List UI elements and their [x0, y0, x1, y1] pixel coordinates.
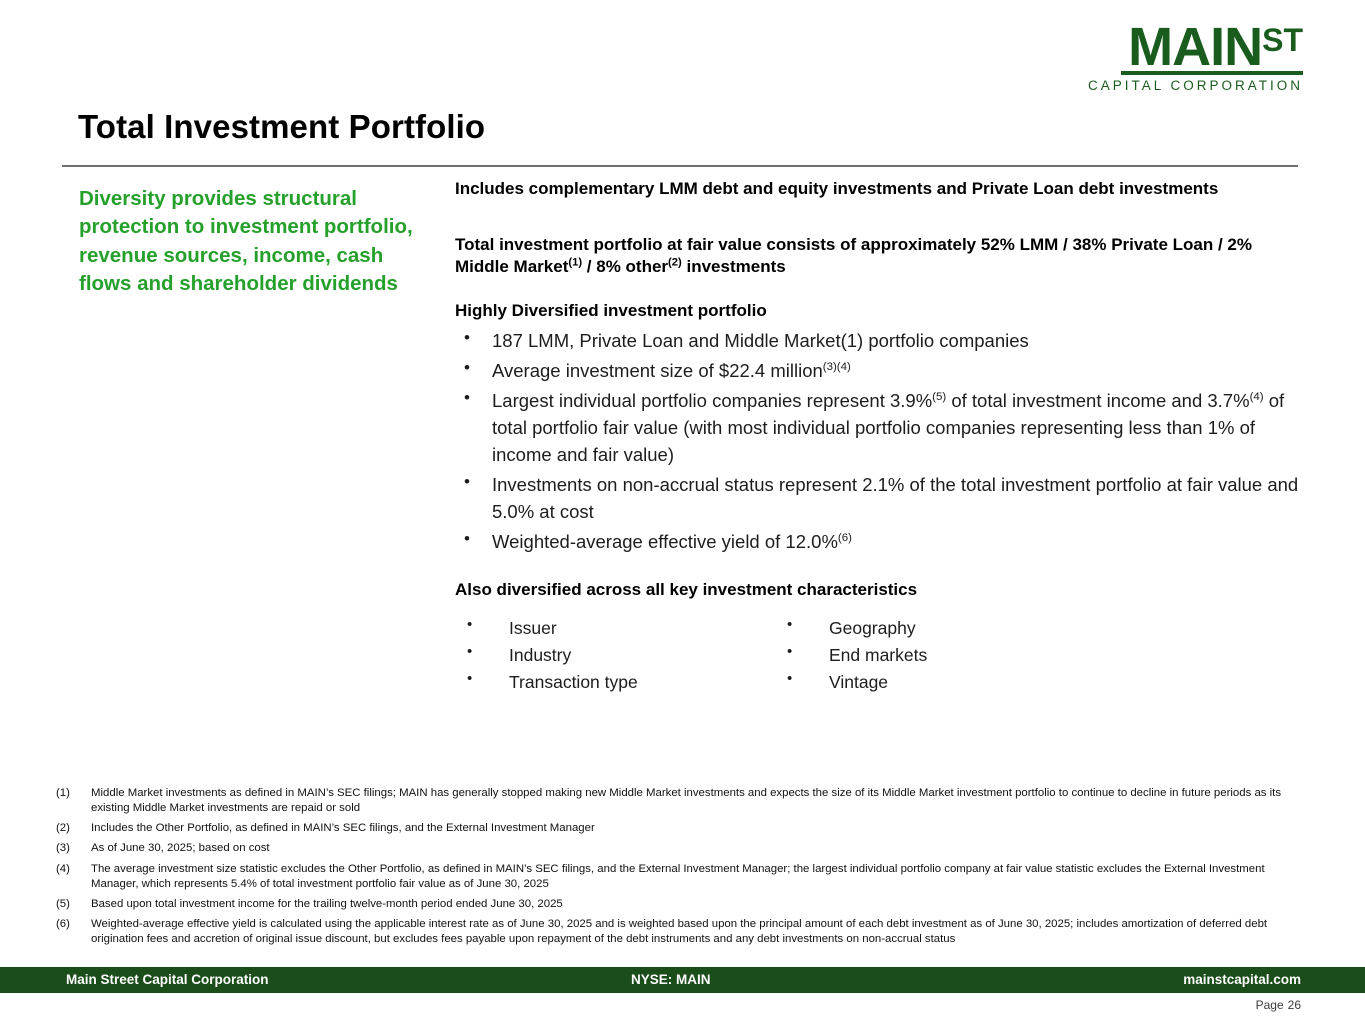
logo-wordmark-st: ST: [1262, 22, 1303, 58]
footnote-number: (1): [56, 786, 91, 816]
footnote-number: (6): [56, 917, 91, 947]
brand-logo: MAINST CAPITAL CORPORATION: [1088, 22, 1303, 93]
list-item-text: Average investment size of $22.4 million: [492, 360, 823, 381]
list-item-text: Investments on non-accrual status repres…: [492, 474, 1298, 522]
list-item-text: Largest individual portfolio companies r…: [492, 390, 932, 411]
list-item: 187 LMM, Private Loan and Middle Market(…: [455, 327, 1300, 354]
diversity-callout: Diversity provides structural protection…: [79, 185, 429, 299]
list-item-text: Weighted-average effective yield of 12.0…: [492, 531, 838, 552]
title-divider: [62, 165, 1298, 167]
logo-wordmark-main: MAIN: [1128, 17, 1262, 77]
logo-wordmark: MAINST: [1088, 22, 1303, 73]
lead-statement-1: Includes complementary LMM debt and equi…: [455, 178, 1300, 200]
page-number-label: Page: [1256, 998, 1284, 1012]
characteristic-item-right: Vintage: [775, 669, 927, 696]
logo-subtitle: CAPITAL CORPORATION: [1088, 79, 1303, 93]
portfolio-stats-list: 187 LMM, Private Loan and Middle Market(…: [455, 327, 1300, 555]
list-item: Largest individual portfolio companies r…: [455, 387, 1300, 469]
page-title: Total Investment Portfolio: [78, 108, 485, 146]
characteristics-column-left: IssuerIndustryTransaction type: [455, 615, 775, 695]
characteristics-list-right: GeographyEnd marketsVintage: [775, 615, 927, 695]
footnote-text: Includes the Other Portfolio, as defined…: [91, 821, 1301, 836]
footnote-text: As of June 30, 2025; based on cost: [91, 841, 1301, 856]
lead-2-text-b: / 8% other: [582, 257, 668, 276]
footer-website: mainstcapital.com: [1183, 972, 1301, 987]
footnote-text: Middle Market investments as defined in …: [91, 786, 1301, 816]
footnote-number: (5): [56, 897, 91, 912]
footnote-ref: (4): [1250, 391, 1264, 403]
section-heading-characteristics: Also diversified across all key investme…: [455, 579, 1300, 601]
characteristic-item-right: End markets: [775, 642, 927, 669]
footnote-row: (4)The average investment size statistic…: [56, 862, 1301, 892]
page-number-value: 26: [1288, 998, 1301, 1012]
footnote-text: The average investment size statistic ex…: [91, 862, 1301, 892]
footnote-row: (5)Based upon total investment income fo…: [56, 897, 1301, 912]
section-heading-diversified: Highly Diversified investment portfolio: [455, 300, 1300, 322]
footnote-ref: (6): [838, 532, 852, 544]
main-content: Includes complementary LMM debt and equi…: [455, 178, 1300, 695]
characteristic-item-left: Issuer: [455, 615, 775, 642]
page-number: Page26: [1256, 998, 1301, 1012]
footnote-row: (1)Middle Market investments as defined …: [56, 786, 1301, 816]
footnote-row: (2)Includes the Other Portfolio, as defi…: [56, 821, 1301, 836]
characteristic-item-left: Industry: [455, 642, 775, 669]
footer-ticker: NYSE: MAIN: [631, 972, 711, 987]
footer-bar: Main Street Capital Corporation NYSE: MA…: [0, 967, 1365, 993]
characteristics-columns: IssuerIndustryTransaction type Geography…: [455, 615, 1300, 695]
list-item: Weighted-average effective yield of 12.0…: [455, 528, 1300, 555]
list-item: Investments on non-accrual status repres…: [455, 471, 1300, 525]
footnote-ref-1: (1): [568, 257, 582, 269]
footnotes-block: (1)Middle Market investments as defined …: [56, 786, 1301, 952]
footnote-ref: (3)(4): [823, 361, 851, 373]
lead-2-text-c: investments: [682, 257, 786, 276]
characteristics-list-left: IssuerIndustryTransaction type: [455, 615, 775, 695]
footnote-number: (3): [56, 841, 91, 856]
characteristic-item-right: Geography: [775, 615, 927, 642]
list-item-text: 187 LMM, Private Loan and Middle Market(…: [492, 330, 1029, 351]
footnote-row: (3)As of June 30, 2025; based on cost: [56, 841, 1301, 856]
footnote-ref-2: (2): [668, 257, 682, 269]
list-item-text: of total investment income and 3.7%: [946, 390, 1249, 411]
footnote-number: (4): [56, 862, 91, 892]
footnote-text: Weighted-average effective yield is calc…: [91, 917, 1301, 947]
lead-statement-2: Total investment portfolio at fair value…: [455, 234, 1300, 278]
footnote-number: (2): [56, 821, 91, 836]
characteristics-column-right: GeographyEnd marketsVintage: [775, 615, 927, 695]
characteristic-item-left: Transaction type: [455, 669, 775, 696]
footer-company-name: Main Street Capital Corporation: [66, 972, 269, 987]
footnote-ref: (5): [932, 391, 946, 403]
footnote-text: Based upon total investment income for t…: [91, 897, 1301, 912]
list-item: Average investment size of $22.4 million…: [455, 357, 1300, 384]
footnote-row: (6)Weighted-average effective yield is c…: [56, 917, 1301, 947]
